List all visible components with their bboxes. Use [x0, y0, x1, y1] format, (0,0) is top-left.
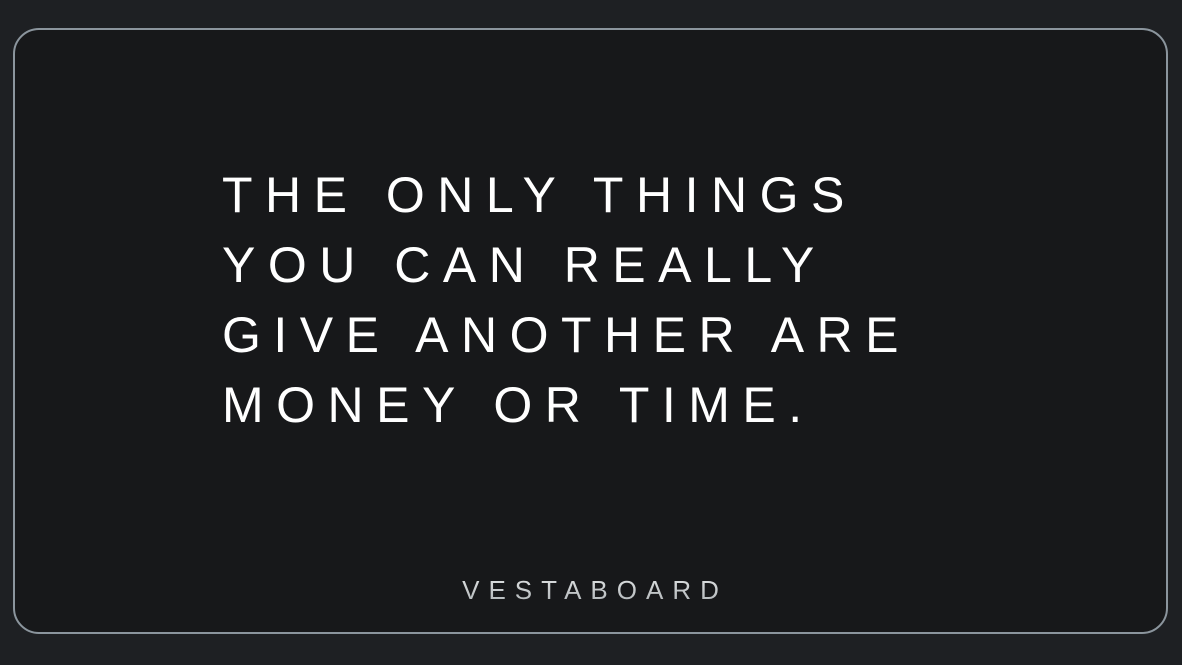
quote-line-4: MONEY OR TIME.	[222, 370, 1122, 440]
quote-line-1: THE ONLY THINGS	[222, 160, 1122, 230]
vestaboard-display-card: THE ONLY THINGS YOU CAN REALLY GIVE ANOT…	[13, 28, 1168, 634]
brand-wordmark-text: VESTABOARD	[453, 575, 728, 606]
quote-message: THE ONLY THINGS YOU CAN REALLY GIVE ANOT…	[222, 160, 1122, 440]
brand-wordmark: VESTABOARD	[15, 575, 1166, 606]
screenshot-canvas: THE ONLY THINGS YOU CAN REALLY GIVE ANOT…	[0, 0, 1182, 665]
quote-line-2: YOU CAN REALLY	[222, 230, 1122, 300]
quote-line-3: GIVE ANOTHER ARE	[222, 300, 1122, 370]
